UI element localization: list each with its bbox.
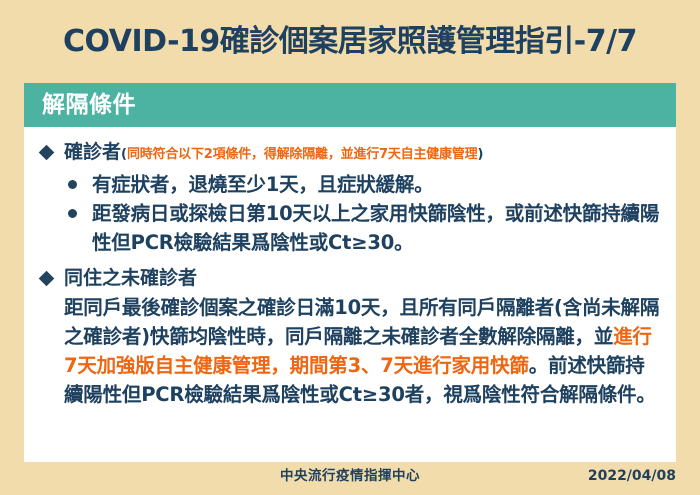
section-header-label: 解隔條件: [42, 90, 136, 120]
heading-cohabitant: 同住之未確診者: [38, 263, 662, 293]
infographic-poster: COVID-19確診個案居家照護管理指引-7/7 解隔條件 確診者(同時符合以下…: [0, 0, 700, 495]
diamond-bullet-icon: [39, 271, 55, 287]
diamond-bullet-icon: [39, 145, 55, 161]
list-item: 有症狀者，退燒至少1天，且症狀緩解。: [38, 170, 662, 199]
heading-cohabitant-text: 同住之未確診者: [64, 267, 197, 289]
content-block-cohabitant: 同住之未確診者 距同戶最後確診個案之確診日滿10天，且所有同戶隔離者(含尚未解隔…: [38, 263, 662, 409]
footer: 中央流行疫情指揮中心 2022/04/08: [24, 466, 676, 490]
list-item-text: 距發病日或探檢日第10天以上之家用快篩陰性，或前述快篩持續陽性但PCR檢驗結果爲…: [92, 202, 659, 254]
round-bullet-icon: [68, 209, 77, 218]
content-block-confirmed-case: 確診者(同時符合以下2項條件，得解除隔離，並進行7天自主健康管理) 有症狀者，退…: [38, 137, 662, 257]
round-bullet-icon: [68, 180, 77, 189]
content-card: 確診者(同時符合以下2項條件，得解除隔離，並進行7天自主健康管理) 有症狀者，退…: [24, 127, 676, 462]
poster-title: COVID-19確診個案居家照護管理指引-7/7: [0, 22, 700, 62]
section-header-bar: 解隔條件: [24, 83, 676, 127]
paren-close: ): [477, 147, 483, 162]
poster-title-text: COVID-19確診個案居家照護管理指引-7/7: [63, 22, 637, 62]
heading-confirmed-case: 確診者(同時符合以下2項條件，得解除隔離，並進行7天自主健康管理): [38, 137, 662, 170]
footer-date: 2022/04/08: [588, 466, 676, 486]
list-item: 距發病日或探檢日第10天以上之家用快篩陰性，或前述快篩持續陽性但PCR檢驗結果爲…: [38, 199, 662, 257]
paragraph-part-1: 距同戶最後確診個案之確診日滿10天，且所有同戶隔離者(含尚未解隔之確診者)快篩均…: [64, 296, 659, 348]
paragraph-cohabitant: 距同戶最後確診個案之確診日滿10天，且所有同戶隔離者(含尚未解隔之確診者)快篩均…: [38, 293, 662, 409]
footer-organization: 中央流行疫情指揮中心: [24, 466, 676, 486]
heading-confirmed-case-note: 同時符合以下2項條件，得解除隔離，並進行7天自主健康管理: [127, 147, 478, 162]
list-item-text: 有症狀者，退燒至少1天，且症狀緩解。: [92, 173, 433, 196]
heading-confirmed-case-text: 確診者: [64, 141, 121, 163]
